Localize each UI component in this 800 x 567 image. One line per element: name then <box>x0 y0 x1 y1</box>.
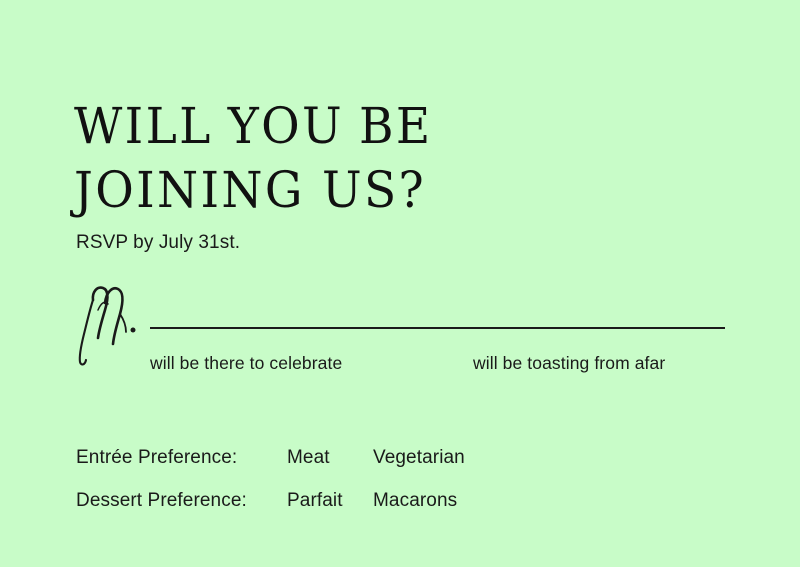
preference-label-entree: Entrée Preference: <box>76 444 237 472</box>
attendance-option-not-attending[interactable]: will be toasting from afar <box>473 351 665 375</box>
headline-word-will: WILL <box>74 97 213 155</box>
headline-line-1: WILLYOUBE <box>74 94 694 158</box>
name-write-in-line[interactable] <box>150 327 725 329</box>
headline-word-be: BE <box>359 97 433 155</box>
rsvp-deadline-text: RSVP by July 31st. <box>76 230 240 256</box>
preference-row-entree: Entrée Preference: Meat Vegetarian <box>76 444 736 487</box>
preference-choice-vegetarian[interactable]: Vegetarian <box>373 444 465 472</box>
preference-choice-parfait[interactable]: Parfait <box>287 487 343 515</box>
preference-row-dessert: Dessert Preference: Parfait Macarons <box>76 487 736 530</box>
preferences-section: Entrée Preference: Meat Vegetarian Desse… <box>76 444 736 530</box>
attendance-options: will be there to celebrate will be toast… <box>0 351 800 377</box>
page-title: WILLYOUBE JOINING US? <box>74 94 734 222</box>
preference-label-dessert: Dessert Preference: <box>76 487 247 515</box>
attendance-option-attending[interactable]: will be there to celebrate <box>150 351 342 375</box>
preference-choice-macarons[interactable]: Macarons <box>373 487 457 515</box>
rsvp-card: WILLYOUBE JOINING US? RSVP by July 31st. <box>0 0 800 567</box>
headline-line-2: JOINING US? <box>74 158 694 222</box>
preference-choice-meat[interactable]: Meat <box>287 444 330 472</box>
headline-word-you: YOU <box>228 97 344 155</box>
